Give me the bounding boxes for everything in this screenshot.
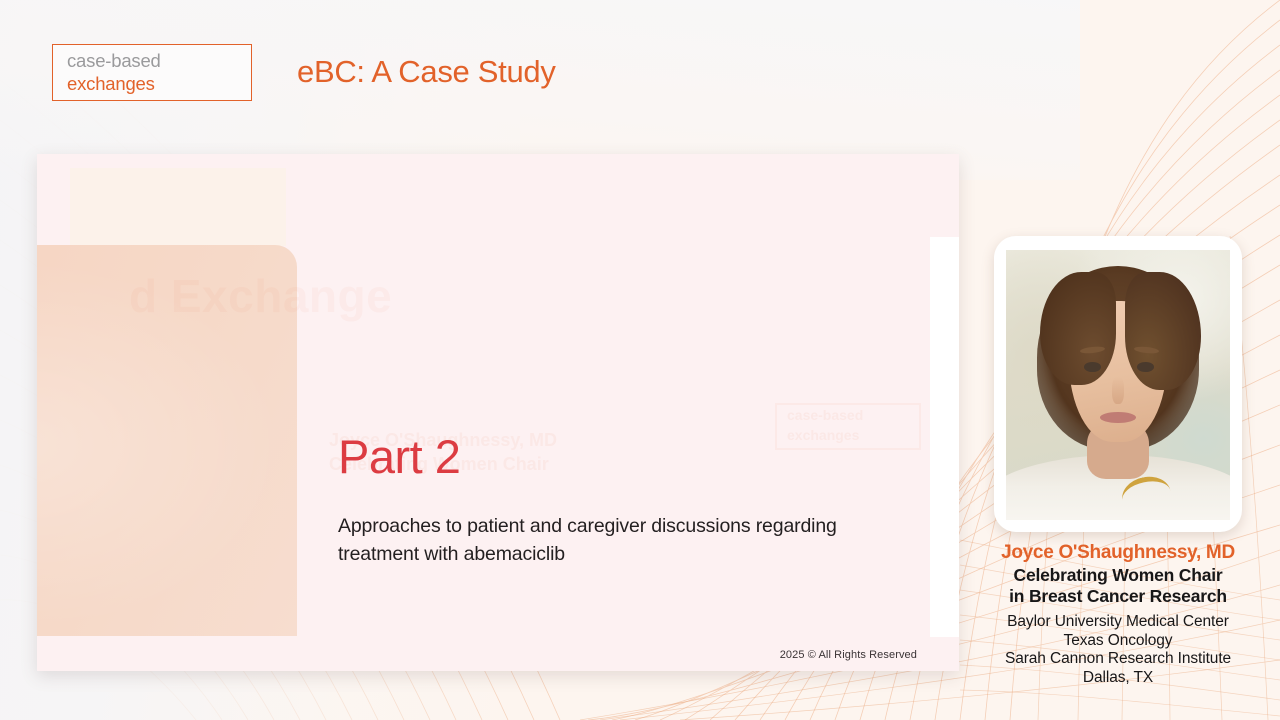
speaker-card: Joyce O'Shaughnessy, MD Celebrating Wome…	[968, 236, 1268, 687]
brand-logo-line2: exchanges	[67, 72, 251, 95]
brand-logo: case-based exchanges	[52, 44, 252, 101]
copyright-footer: 2025 © All Rights Reserved	[37, 649, 917, 661]
speaker-portrait-photo	[1006, 250, 1230, 520]
portrait-eye-left	[1084, 362, 1101, 372]
speaker-photo-frame	[994, 236, 1242, 532]
slide-canvas: case-based exchanges eBC: A Case Study d…	[0, 0, 1280, 720]
brand-logo-line1: case-based	[67, 49, 251, 72]
portrait-nose	[1112, 377, 1123, 404]
ghost-brand-logo-line1: case-based	[777, 405, 919, 425]
speaker-affiliations: Baylor University Medical Center Texas O…	[968, 613, 1268, 687]
portrait-eye-right	[1137, 362, 1154, 372]
header: case-based exchanges eBC: A Case Study	[0, 0, 1280, 150]
speaker-name: Joyce O'Shaughnessy, MD	[968, 541, 1268, 564]
portrait-mouth	[1100, 412, 1136, 423]
ghost-brand-logo: case-based exchanges	[775, 403, 921, 450]
speaker-role: Celebrating Women Chair in Breast Cancer…	[968, 565, 1268, 607]
ghost-brand-logo-line2: exchanges	[777, 425, 919, 445]
slide-panel: d Exchange Joyce O'Shaughnessy, MD Celeb…	[37, 154, 959, 671]
page-title: eBC: A Case Study	[297, 54, 556, 90]
slide-white-strip	[930, 237, 959, 637]
ghost-heading-text: d Exchange	[129, 269, 392, 323]
part-label: Part 2	[338, 430, 460, 484]
part-subtitle: Approaches to patient and caregiver disc…	[338, 512, 878, 568]
